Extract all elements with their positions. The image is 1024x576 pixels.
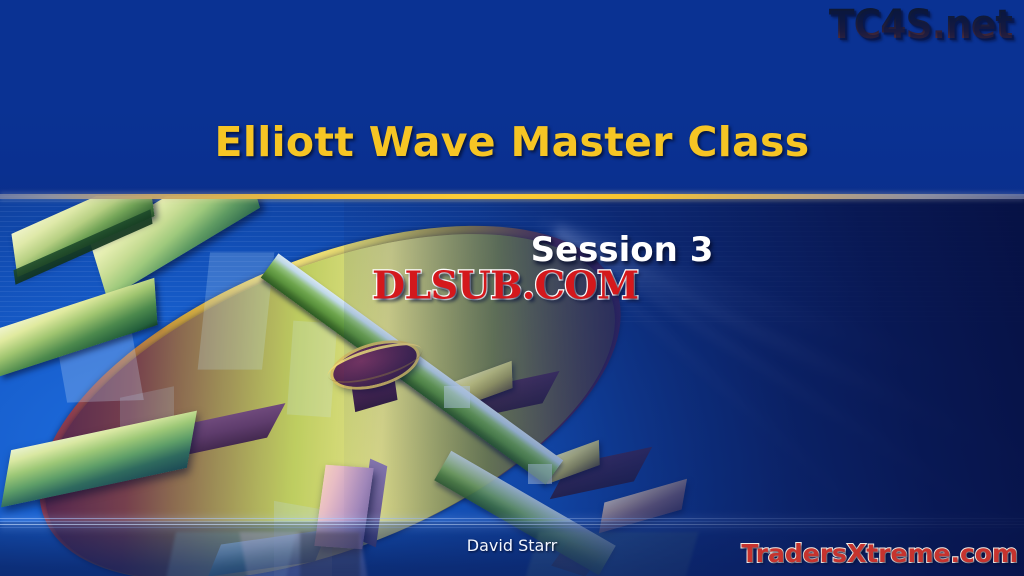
gold-divider-line [0, 194, 1024, 199]
presentation-slide: Elliott Wave Master Class Session 3 Davi… [0, 0, 1024, 576]
watermark-tc4s: TC4S.net [829, 2, 1012, 48]
page-title: Elliott Wave Master Class [0, 118, 1024, 166]
watermark-tradersxtreme: TradersXtreme.com [741, 539, 1018, 568]
gold-divider [0, 190, 1024, 202]
watermark-dlsub: DLSUB.COM [372, 262, 639, 308]
